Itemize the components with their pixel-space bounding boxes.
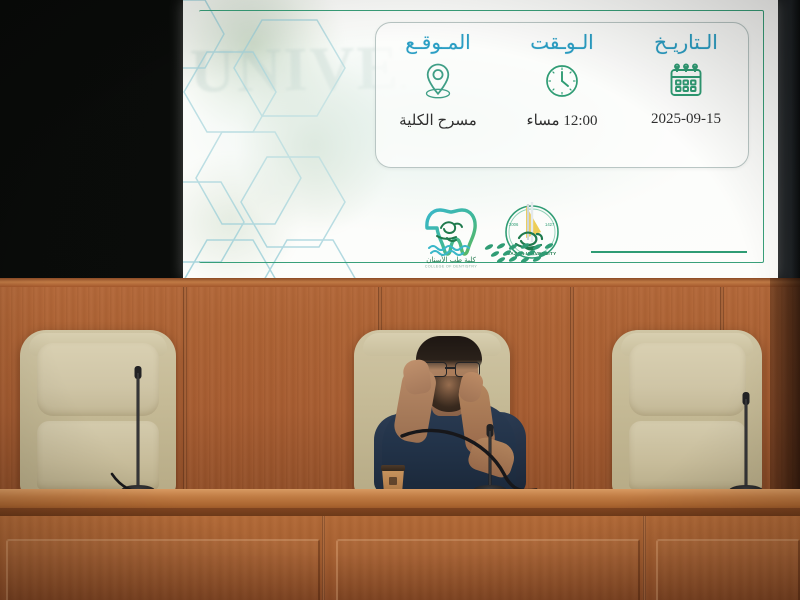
- info-value-date: 2025-09-15: [651, 111, 721, 128]
- green-leaf-pattern: [483, 242, 575, 262]
- wall-seam-3: [570, 287, 574, 497]
- info-value-location: مسرح الكلية: [399, 111, 477, 130]
- event-info-card: الـتاريـخ: [375, 22, 749, 168]
- mic-center-stem: [489, 431, 492, 489]
- mic-left: [118, 366, 158, 496]
- calendar-icon: [666, 55, 706, 107]
- mic-right-stem: [745, 399, 748, 489]
- conference-room-screenshot: UNIVERSITY ال: [0, 0, 800, 600]
- info-heading-date: الـتاريـخ: [654, 31, 718, 53]
- info-value-time: 12:00 مساء: [527, 111, 598, 130]
- mic-right: [726, 392, 766, 496]
- mic-center: [470, 424, 510, 496]
- wall-right-shadow: [770, 278, 800, 496]
- svg-text:2006: 2006: [509, 222, 519, 227]
- table-panel-2: [336, 539, 640, 600]
- coffee-cup-lid: [381, 465, 405, 471]
- info-heading-location: المـوقـع: [405, 31, 470, 53]
- coffee-cup-logo: [389, 477, 397, 485]
- svg-text:1427: 1427: [545, 222, 555, 227]
- table-panel-3: [656, 539, 800, 600]
- info-column-time: الـوـقت: [500, 23, 624, 167]
- svg-text:كلية طب الأسنان: كلية طب الأسنان: [426, 255, 476, 264]
- info-heading-time: الـوـقت: [530, 31, 593, 53]
- table-seam-1: [322, 516, 325, 600]
- slide-green-rule: [591, 251, 747, 253]
- svg-text:COLLEGE OF DENTISTRY: COLLEGE OF DENTISTRY: [425, 265, 477, 269]
- upper-wall-right-edge: [778, 0, 800, 284]
- tooth-logo-icon: كلية طب الأسنان COLLEGE OF DENTISTRY: [411, 200, 491, 268]
- map-pin-icon: [418, 55, 458, 107]
- speaker-raised-hand: [402, 358, 432, 395]
- table-seam-2: [643, 516, 646, 600]
- slide-logos-row: كلية طب الأسنان COLLEGE OF DENTISTRY: [183, 196, 778, 270]
- table-panel-1: [6, 539, 320, 600]
- mic-left-stem: [137, 373, 140, 489]
- clock-icon: [542, 55, 582, 107]
- info-column-location: المـوقـع مسرح الكلية: [376, 23, 500, 167]
- info-column-date: الـتاريـخ: [624, 23, 748, 167]
- wall-seam-1: [183, 287, 187, 497]
- wall-top-moulding: [0, 278, 800, 287]
- projection-screen: UNIVERSITY ال: [183, 0, 778, 279]
- eyeglasses-bridge: [445, 367, 455, 369]
